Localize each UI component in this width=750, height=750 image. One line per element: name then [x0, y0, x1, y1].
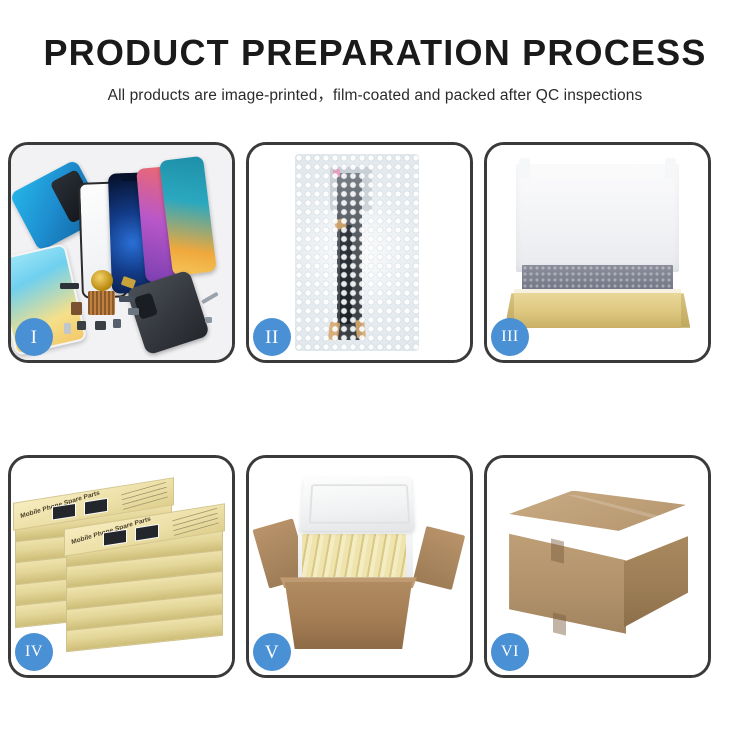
box-spec-text-lines [122, 481, 168, 509]
step-badge-2: II [253, 318, 291, 356]
carton-tape-patch [551, 539, 564, 564]
step-panel-4[interactable]: Mobile Phone Spare Parts Mobile Phone Sp… [8, 455, 235, 678]
box-spec-text-lines [173, 508, 219, 536]
step-panel-2[interactable]: II [246, 142, 473, 363]
step-panel-1[interactable]: I [8, 142, 235, 363]
gold-box-front [514, 293, 682, 327]
foam-box-lid [300, 477, 415, 531]
small-part [128, 308, 139, 314]
box-artwork-window [84, 497, 108, 515]
step-badge-3: III [491, 318, 529, 356]
step-panel-6[interactable]: VI [484, 455, 711, 678]
page-subtitle: All products are image-printed，film-coat… [0, 83, 750, 105]
box-artwork-window [53, 503, 77, 521]
bubble-wrap-bag [295, 154, 419, 352]
gold-coil-part [91, 270, 113, 292]
small-part [113, 319, 122, 328]
page-header: PRODUCT PREPARATION PROCESS All products… [0, 0, 750, 105]
packed-retail-boxes [302, 534, 406, 577]
step-panel-5[interactable]: V [246, 455, 473, 678]
step-badge-4: IV [15, 633, 53, 671]
white-box-lid [516, 164, 680, 272]
box-artwork-window [135, 524, 159, 542]
step-badge-1: I [15, 318, 53, 356]
carton-front-panel [278, 582, 419, 649]
carton-tape-patch [553, 613, 566, 636]
product-preparation-infographic: PRODUCT PREPARATION PROCESS All products… [0, 0, 750, 750]
small-part [119, 296, 134, 302]
small-part [95, 321, 106, 330]
small-part [205, 317, 212, 323]
carton-right-face [624, 536, 688, 627]
step-panel-3[interactable]: III [484, 142, 711, 363]
small-part [64, 323, 71, 334]
bubble-texture [295, 154, 419, 352]
page-title: PRODUCT PREPARATION PROCESS [0, 34, 750, 72]
small-part [201, 291, 218, 304]
step-badge-6: VI [491, 633, 529, 671]
small-part [60, 283, 80, 289]
step-badge-5: V [253, 633, 291, 671]
carton-right-flap [413, 526, 465, 590]
small-part [71, 302, 82, 315]
small-part [77, 321, 86, 330]
chip-grid-part [88, 291, 115, 315]
box-artwork-window [103, 529, 127, 547]
process-steps-grid: I II [8, 142, 742, 678]
carton-left-face [509, 532, 626, 634]
